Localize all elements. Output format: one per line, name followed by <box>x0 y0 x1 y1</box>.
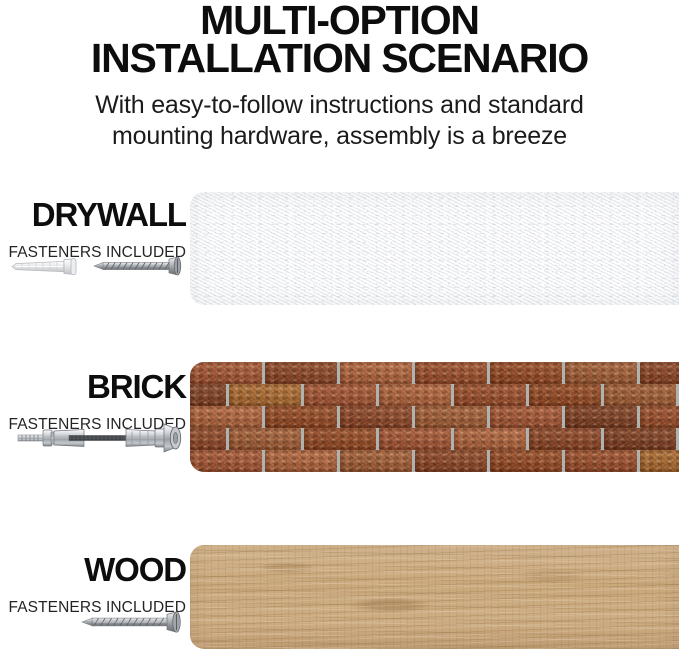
brick-unit <box>454 384 526 406</box>
screw-icon <box>92 254 186 278</box>
brick-unit <box>454 428 526 450</box>
brick-unit <box>415 362 487 384</box>
subtitle-line-2: mounting hardware, assembly is a breeze <box>0 121 679 152</box>
brick-unit <box>190 428 226 450</box>
title-line-2: INSTALLATION SCENARIO <box>0 40 679 78</box>
brick-unit <box>640 406 679 428</box>
brick-unit <box>190 384 226 406</box>
brick-unit <box>529 384 601 406</box>
brick-unit <box>340 362 412 384</box>
material-name-wood: WOOD <box>0 541 186 586</box>
brick-unit <box>490 406 562 428</box>
brick-unit <box>604 384 676 406</box>
brick-unit <box>415 450 487 472</box>
brick-course <box>190 384 643 406</box>
wood-surface-texture <box>190 545 679 649</box>
brick-unit <box>490 362 562 384</box>
brick-unit <box>640 362 679 384</box>
brick-unit <box>265 362 337 384</box>
brick-unit <box>340 450 412 472</box>
brick-unit <box>304 384 376 406</box>
brick-surface-texture <box>190 362 679 472</box>
material-name-drywall: DRYWALL <box>0 186 186 231</box>
brick-course-stack <box>190 362 679 472</box>
brick-unit <box>190 362 262 384</box>
brick-course <box>190 428 643 450</box>
brick-hardware-group <box>0 418 190 458</box>
wall-anchor-icon <box>6 254 84 278</box>
molly-bolt-anchor-icon <box>14 418 186 458</box>
brick-unit <box>229 428 301 450</box>
material-name-brick: BRICK <box>0 358 186 403</box>
brick-unit <box>190 406 262 428</box>
brick-unit <box>415 406 487 428</box>
brick-unit <box>604 428 676 450</box>
brick-course <box>190 362 679 384</box>
page-subtitle: With easy-to-follow instructions and sta… <box>0 90 679 151</box>
brick-unit <box>565 450 637 472</box>
subtitle-line-1: With easy-to-follow instructions and sta… <box>0 90 679 121</box>
brick-unit <box>490 450 562 472</box>
brick-unit <box>565 362 637 384</box>
brick-unit <box>190 450 262 472</box>
header: MULTI-OPTION INSTALLATION SCENARIO With … <box>0 0 679 151</box>
brick-course <box>190 406 679 428</box>
installation-row-drywall: DRYWALL FASTENERS INCLUDED <box>0 186 679 312</box>
brick-unit <box>529 428 601 450</box>
brick-unit <box>229 384 301 406</box>
brick-unit <box>640 450 679 472</box>
drywall-hardware-group <box>0 254 188 278</box>
brick-unit <box>265 406 337 428</box>
brick-unit <box>379 384 451 406</box>
brick-unit <box>340 406 412 428</box>
installation-row-wood: WOOD FASTENERS INCLUDED <box>0 541 679 649</box>
wood-screw-icon <box>80 609 186 635</box>
installation-row-brick: BRICK FASTENERS INCLUDED <box>0 358 679 484</box>
brick-unit <box>379 428 451 450</box>
page-title: MULTI-OPTION INSTALLATION SCENARIO <box>0 0 679 77</box>
drywall-surface-texture <box>190 192 679 305</box>
brick-unit <box>265 450 337 472</box>
wood-hardware-group <box>0 609 190 635</box>
brick-unit <box>304 428 376 450</box>
brick-unit <box>565 406 637 428</box>
brick-course <box>190 450 679 472</box>
drywall-label-column: DRYWALL FASTENERS INCLUDED <box>0 186 186 312</box>
